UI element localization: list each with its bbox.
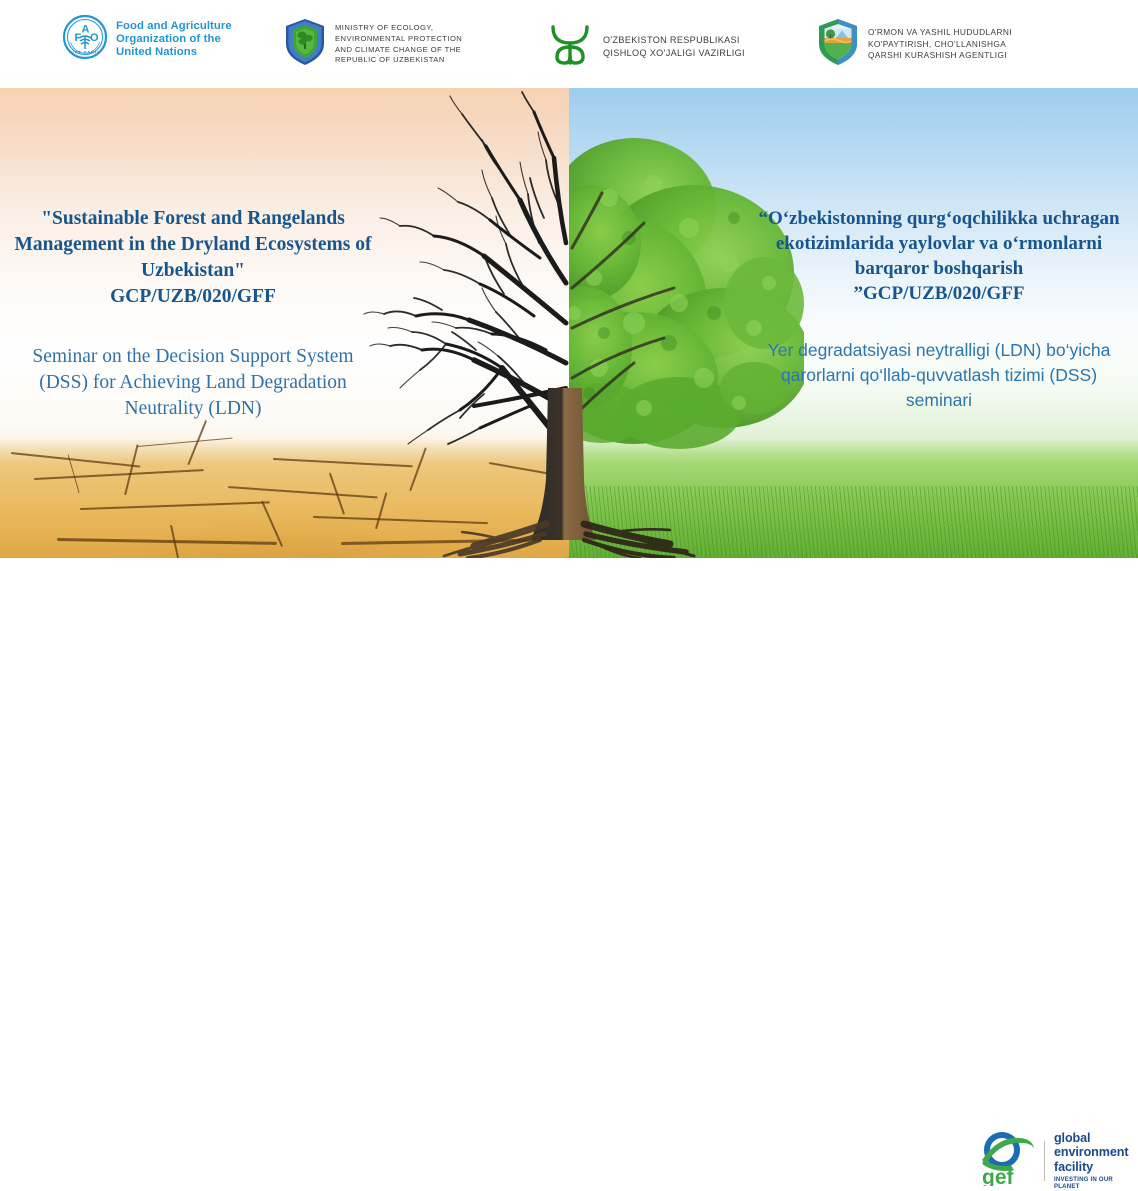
logo-forestry-agency: O'RMON VA YASHIL HUDUDLARNI KO'PAYTIRISH… [816, 17, 1012, 72]
project-code-uz: ”GCP/UZB/020/GFF [752, 281, 1126, 306]
logo-fao-label: Food and Agriculture Organization of the… [116, 20, 232, 60]
svg-text:O: O [90, 32, 99, 44]
banner: "Sustainable Forest and Rangelands Manag… [0, 88, 1138, 558]
gef-line-3: facility [1054, 1160, 1138, 1174]
gef-divider [1044, 1141, 1045, 1181]
gef-line-1: global [1054, 1131, 1138, 1145]
gef-line-2: environment [1054, 1145, 1138, 1159]
sprout-leaf-icon [545, 19, 595, 74]
gef-swirl-icon: gef [976, 1130, 1038, 1191]
event-title-uz: Yer degradatsiyasi neytralligi (LDN) bo‘… [752, 338, 1126, 413]
text-panel-uzbek: “O‘zbekistonning qurg‘oqchilikka uchraga… [752, 206, 1126, 413]
footer-bar: gef global environment facility INVESTIN… [0, 558, 1138, 640]
svg-text:A: A [82, 24, 90, 36]
text-panel-english: "Sustainable Forest and Rangelands Manag… [14, 206, 372, 423]
svg-text:gef: gef [982, 1166, 1015, 1186]
logo-gef: gef global environment facility INVESTIN… [976, 1130, 1138, 1191]
logo-ministry-of-ecology-label: MINISTRY OF ECOLOGY, ENVIRONMENTAL PROTE… [335, 23, 462, 66]
project-title-en: "Sustainable Forest and Rangelands Manag… [14, 206, 372, 284]
logo-ministry-of-agriculture: O'ZBEKISTON RESPUBLIKASI QISHLOQ XO'JALI… [545, 19, 745, 74]
presentation-slide: F A O FIAT PANIS Food and Agriculture Or… [0, 0, 1138, 640]
svg-text:F: F [75, 32, 82, 44]
logo-forestry-agency-label: O'RMON VA YASHIL HUDUDLARNI KO'PAYTIRISH… [868, 27, 1012, 62]
svg-text:FIAT PANIS: FIAT PANIS [69, 50, 101, 55]
fao-emblem-icon: F A O FIAT PANIS [62, 14, 108, 65]
cracked-earth-texture [0, 438, 569, 558]
gef-wordmark: global environment facility INVESTING IN… [1054, 1131, 1138, 1189]
logo-fao: F A O FIAT PANIS Food and Agriculture Or… [62, 14, 232, 65]
ecology-shield-icon [283, 17, 327, 72]
panel-spacer [14, 310, 372, 344]
event-title-en: Seminar on the Decision Support System (… [14, 344, 372, 423]
project-code-en: GCP/UZB/020/GFF [14, 284, 372, 310]
logo-ministry-of-ecology: MINISTRY OF ECOLOGY, ENVIRONMENTAL PROTE… [283, 17, 462, 72]
project-title-uz: “O‘zbekistonning qurg‘oqchilikka uchraga… [752, 206, 1126, 281]
forestry-shield-icon [816, 17, 860, 72]
logo-ministry-of-agriculture-label: O'ZBEKISTON RESPUBLIKASI QISHLOQ XO'JALI… [603, 34, 745, 59]
gef-tagline: INVESTING IN OUR PLANET [1054, 1176, 1138, 1190]
grass-texture [569, 438, 1138, 558]
logo-bar: F A O FIAT PANIS Food and Agriculture Or… [0, 0, 1138, 88]
panel-spacer [752, 306, 1126, 338]
